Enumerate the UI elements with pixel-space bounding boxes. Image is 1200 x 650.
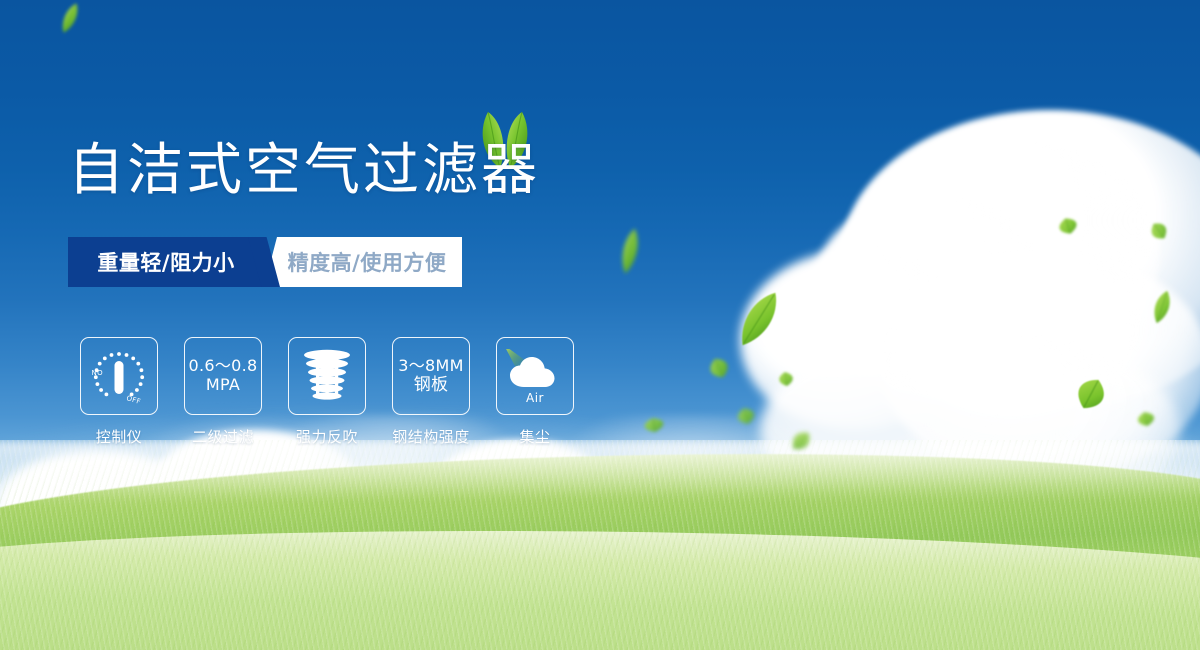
page-title: 自洁式空气过滤器 (68, 143, 540, 199)
feature-list: NO OFF 控制仪 0.6〜0.8 MPA 二级过滤 (80, 337, 574, 447)
air-label: Air (504, 391, 566, 405)
pressure-value-top: 0.6〜0.8 (189, 357, 258, 376)
gauge-dial-icon: NO OFF (88, 345, 150, 407)
feature-box-secondary-filtration: 0.6〜0.8 MPA (184, 337, 262, 415)
feature-item-control-instrument[interactable]: NO OFF 控制仪 (80, 337, 158, 447)
feature-item-secondary-filtration[interactable]: 0.6〜0.8 MPA 二级过滤 (184, 337, 262, 447)
filter-cartridge-stack-icon (301, 348, 353, 404)
air-cloud-icon: Air (504, 349, 566, 403)
feature-box-steel-strength: 3〜8MM 钢板 (392, 337, 470, 415)
steel-value-bottom: 钢板 (414, 375, 449, 395)
feature-label-steel-strength: 钢结构强度 (392, 426, 470, 447)
steel-value-top: 3〜8MM (398, 357, 463, 376)
feature-item-strong-backblow[interactable]: 强力反吹 (288, 337, 366, 447)
product-banner: 自洁式空气过滤器 重量轻/阻力小 精度高/使用方便 (0, 0, 1200, 650)
feature-box-dust-collection: Air (496, 337, 574, 415)
subtitle-left-tag: 重量轻/阻力小 (68, 237, 264, 287)
feature-label-strong-backblow: 强力反吹 (296, 426, 358, 447)
horizon-glow (0, 440, 1200, 500)
feature-item-steel-strength[interactable]: 3〜8MM 钢板 钢结构强度 (392, 337, 470, 447)
pressure-value-bottom: MPA (206, 376, 240, 395)
subtitle-bar: 重量轻/阻力小 精度高/使用方便 (68, 237, 462, 287)
feature-box-control-instrument: NO OFF (80, 337, 158, 415)
grass-field (0, 440, 1200, 650)
feature-label-secondary-filtration: 二级过滤 (192, 426, 254, 447)
feature-label-control-instrument: 控制仪 (96, 426, 143, 447)
svg-text:OFF: OFF (125, 394, 141, 406)
feature-label-dust-collection: 集尘 (519, 426, 550, 447)
feature-item-dust-collection[interactable]: Air 集尘 (496, 337, 574, 447)
svg-text:NO: NO (92, 369, 104, 377)
subtitle-right-tag: 精度高/使用方便 (264, 237, 462, 287)
feature-box-strong-backblow (288, 337, 366, 415)
